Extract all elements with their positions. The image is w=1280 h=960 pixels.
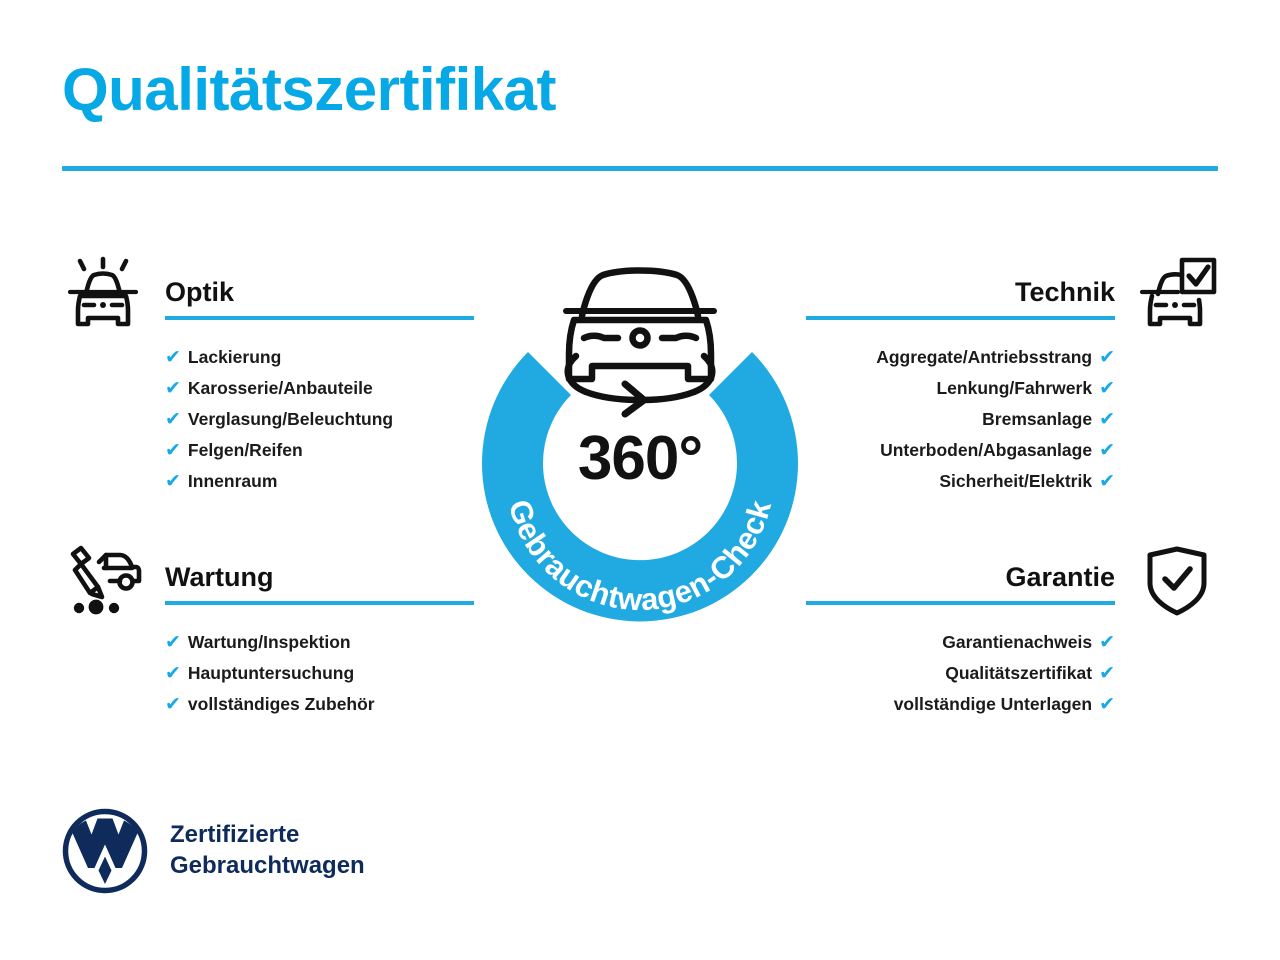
check-icon: ✔ xyxy=(165,628,181,658)
list-item: ✔ Felgen/Reifen xyxy=(62,435,482,466)
left-column: Optik ✔ Lackierung ✔ Karosserie/Anbautei… xyxy=(62,252,482,720)
list-item-label: Karosserie/Anbauteile xyxy=(188,373,373,403)
list-item-label: Lenkung/Fahrwerk xyxy=(936,373,1092,403)
list-item: ✔ Hauptuntersuchung xyxy=(62,658,482,689)
section-optik-header: Optik xyxy=(62,252,482,336)
check-icon: ✔ xyxy=(1099,628,1115,658)
list-item-label: Wartung/Inspektion xyxy=(188,627,351,657)
car-checkbox-icon xyxy=(1136,256,1218,336)
section-garantie-underline xyxy=(806,601,1115,605)
pencil-car-service-icon xyxy=(62,541,144,621)
list-item-label: Unterboden/Abgasanlage xyxy=(880,435,1092,465)
check-icon: ✔ xyxy=(165,690,181,720)
section-wartung: Wartung ✔ Wartung/Inspektion ✔ Hauptunte… xyxy=(62,537,482,720)
badge-degrees: 360° xyxy=(462,428,818,490)
gebrauchtwagen-check-badge: Gebrauchtwagen-Check 360° xyxy=(462,248,818,634)
list-item-label: Lackierung xyxy=(188,342,281,372)
list-item-label: Hauptuntersuchung xyxy=(188,658,354,688)
vw-footer-text: Zertifizierte Gebrauchtwagen xyxy=(170,820,365,881)
section-technik-list: Aggregate/Antriebsstrang ✔ Lenkung/Fahrw… xyxy=(798,342,1218,497)
section-optik-underline xyxy=(165,316,474,320)
list-item: Sicherheit/Elektrik ✔ xyxy=(798,466,1218,497)
check-icon: ✔ xyxy=(1099,467,1115,497)
shield-check-icon xyxy=(1136,541,1218,621)
section-optik-title: Optik xyxy=(165,279,234,306)
list-item: Unterboden/Abgasanlage ✔ xyxy=(798,435,1218,466)
vw-footer: Zertifizierte Gebrauchtwagen xyxy=(62,808,365,894)
section-wartung-underline xyxy=(165,601,474,605)
check-icon: ✔ xyxy=(1099,405,1115,435)
car-360-rotation-icon xyxy=(566,271,714,415)
list-item-label: Bremsanlage xyxy=(982,404,1092,434)
list-item-label: vollständiges Zubehör xyxy=(188,689,375,719)
section-garantie-header: Garantie xyxy=(798,537,1218,621)
check-icon: ✔ xyxy=(165,467,181,497)
section-technik: Technik Aggregate/Antriebsstrang ✔ Lenku… xyxy=(798,252,1218,497)
list-item: Bremsanlage ✔ xyxy=(798,404,1218,435)
section-technik-underline xyxy=(806,316,1115,320)
certificate-page: Qualitätszertifikat xyxy=(0,0,1280,960)
car-front-shine-icon xyxy=(62,256,144,336)
list-item: Aggregate/Antriebsstrang ✔ xyxy=(798,342,1218,373)
check-icon: ✔ xyxy=(1099,690,1115,720)
list-item: ✔ Lackierung xyxy=(62,342,482,373)
section-optik-list: ✔ Lackierung ✔ Karosserie/Anbauteile ✔ V… xyxy=(62,342,482,497)
list-item: Garantienachweis ✔ xyxy=(798,627,1218,658)
list-item-label: vollständige Unterlagen xyxy=(894,689,1092,719)
check-icon: ✔ xyxy=(1099,374,1115,404)
check-icon: ✔ xyxy=(165,343,181,373)
section-wartung-header: Wartung xyxy=(62,537,482,621)
section-technik-title: Technik xyxy=(1015,279,1115,306)
list-item: Qualitätszertifikat ✔ xyxy=(798,658,1218,689)
list-item: ✔ Karosserie/Anbauteile xyxy=(62,373,482,404)
section-wartung-title: Wartung xyxy=(165,564,273,591)
section-garantie: Garantie Garantienachweis ✔ Qualitätszer… xyxy=(798,537,1218,720)
list-item: ✔ Wartung/Inspektion xyxy=(62,627,482,658)
list-item: ✔ vollständiges Zubehör xyxy=(62,689,482,720)
list-item-label: Qualitätszertifikat xyxy=(945,658,1092,688)
check-icon: ✔ xyxy=(1099,343,1115,373)
check-icon: ✔ xyxy=(165,659,181,689)
page-title: Qualitätszertifikat xyxy=(62,58,556,121)
check-icon: ✔ xyxy=(1099,659,1115,689)
section-garantie-title: Garantie xyxy=(1005,564,1115,591)
list-item-label: Innenraum xyxy=(188,466,277,496)
section-garantie-list: Garantienachweis ✔ Qualitätszertifikat ✔… xyxy=(798,627,1218,720)
check-icon: ✔ xyxy=(165,405,181,435)
section-technik-header: Technik xyxy=(798,252,1218,336)
list-item-label: Garantienachweis xyxy=(942,627,1092,657)
list-item: ✔ Innenraum xyxy=(62,466,482,497)
check-icon: ✔ xyxy=(165,374,181,404)
section-wartung-list: ✔ Wartung/Inspektion ✔ Hauptuntersuchung… xyxy=(62,627,482,720)
section-optik: Optik ✔ Lackierung ✔ Karosserie/Anbautei… xyxy=(62,252,482,497)
header-divider xyxy=(62,166,1218,171)
right-column: Technik Aggregate/Antriebsstrang ✔ Lenku… xyxy=(798,252,1218,720)
list-item: ✔ Verglasung/Beleuchtung xyxy=(62,404,482,435)
list-item-label: Aggregate/Antriebsstrang xyxy=(876,342,1092,372)
list-item-label: Verglasung/Beleuchtung xyxy=(188,404,393,434)
list-item-label: Felgen/Reifen xyxy=(188,435,303,465)
list-item-label: Sicherheit/Elektrik xyxy=(939,466,1092,496)
check-icon: ✔ xyxy=(1099,436,1115,466)
list-item: vollständige Unterlagen ✔ xyxy=(798,689,1218,720)
check-icon: ✔ xyxy=(165,436,181,466)
vw-logo xyxy=(62,808,148,894)
list-item: Lenkung/Fahrwerk ✔ xyxy=(798,373,1218,404)
